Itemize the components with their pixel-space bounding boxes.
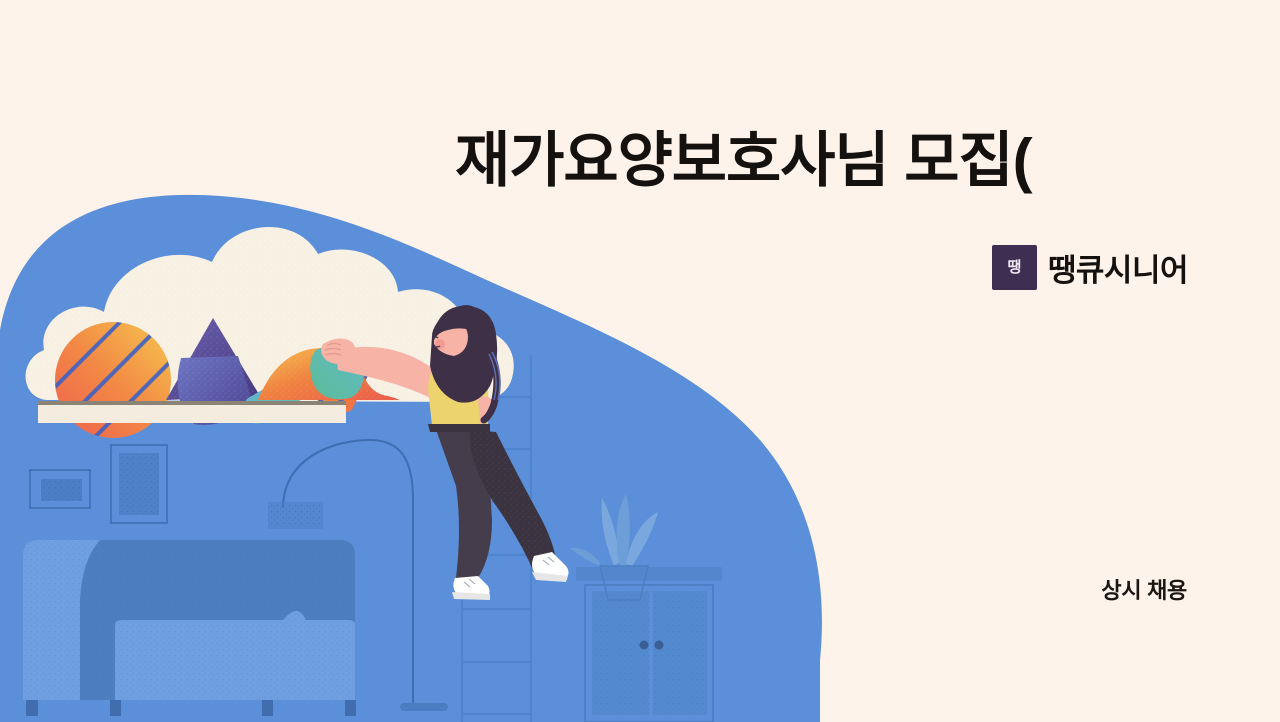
shelf-board xyxy=(38,401,346,423)
job-posting-poster: 재가요양보호사님 모집( 땡 땡큐시니어 상시 채용 xyxy=(0,0,1280,722)
company-logo-badge: 땡 xyxy=(992,245,1037,290)
page-title: 재가요양보호사님 모집( xyxy=(455,126,1190,197)
picture-frame-large xyxy=(111,445,167,523)
company-row[interactable]: 땡 땡큐시니어 xyxy=(992,245,1188,290)
sofa xyxy=(23,540,356,716)
company-name: 땡큐시니어 xyxy=(1048,245,1188,290)
illustration-artwork xyxy=(0,0,860,722)
hand xyxy=(321,338,356,364)
status-badge: 상시 채용 xyxy=(1101,573,1187,605)
